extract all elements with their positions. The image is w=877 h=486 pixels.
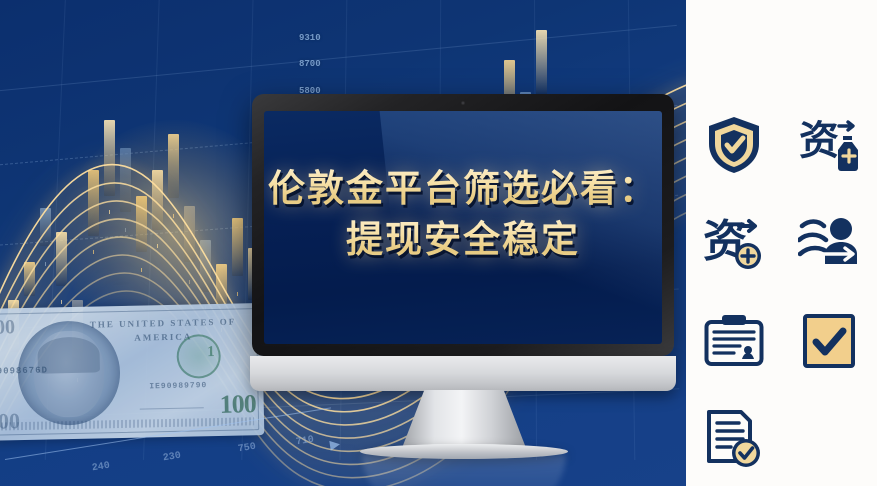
- icon-cell-checkbox: [782, 292, 877, 390]
- headline-line-1: 伦敦金平台筛选必看：: [264, 163, 662, 214]
- icon-cell-funds-add: 资: [686, 194, 782, 292]
- bill-seal-letter: 1: [207, 344, 215, 361]
- headline-line-2: 提现安全稳定: [264, 214, 662, 265]
- icon-cell-id-card: [686, 292, 782, 390]
- monitor-screen: 伦敦金平台筛选必看： 提现安全稳定: [264, 111, 662, 344]
- shield-check-icon: [706, 115, 762, 175]
- verified-document-icon: [705, 409, 763, 469]
- funds-transfer-bag-icon: 资: [798, 116, 860, 174]
- icon-panel: 资 资: [686, 0, 877, 486]
- webcam-icon: [461, 101, 465, 105]
- bill-signature: [139, 393, 203, 409]
- bill-serial-left: KS9098676D: [0, 366, 48, 377]
- monitor-chin: [250, 356, 676, 391]
- icon-grid: 资 资: [686, 96, 877, 486]
- svg-text:资: 资: [799, 118, 839, 164]
- icon-cell-verified-doc: [686, 390, 782, 486]
- icon-cell-shield: [686, 96, 782, 194]
- hundred-dollar-bill: THE UNITED STATES OF AMERICA 1 100 100 1…: [0, 303, 264, 441]
- poster-canvas: THE UNITED STATES OF AMERICA 1 100 100 1…: [0, 0, 877, 486]
- y-tick-0: 9310: [299, 33, 321, 43]
- checkbox-checked-icon: [802, 313, 856, 369]
- funds-add-icon: 资: [703, 214, 765, 272]
- bill-title: THE UNITED STATES OF AMERICA: [88, 316, 239, 346]
- icon-cell-funds-transfer: 资: [782, 96, 877, 194]
- fast-person-transfer-icon: [798, 216, 860, 270]
- bill-serial-right: IE90989790: [149, 381, 207, 391]
- icon-cell-person-transfer: [782, 194, 877, 292]
- y-tick-1: 8700: [299, 59, 321, 69]
- bill-denomination-br: 100: [219, 389, 256, 420]
- bill-denomination-tl: 100: [0, 316, 15, 340]
- monitor: 伦敦金平台筛选必看： 提现安全稳定: [252, 94, 674, 356]
- headline-block: 伦敦金平台筛选必看： 提现安全稳定: [264, 163, 662, 265]
- x-axis-arrow-icon: [329, 439, 340, 450]
- monitor-reflection: [362, 454, 566, 486]
- id-card-icon: [704, 314, 764, 368]
